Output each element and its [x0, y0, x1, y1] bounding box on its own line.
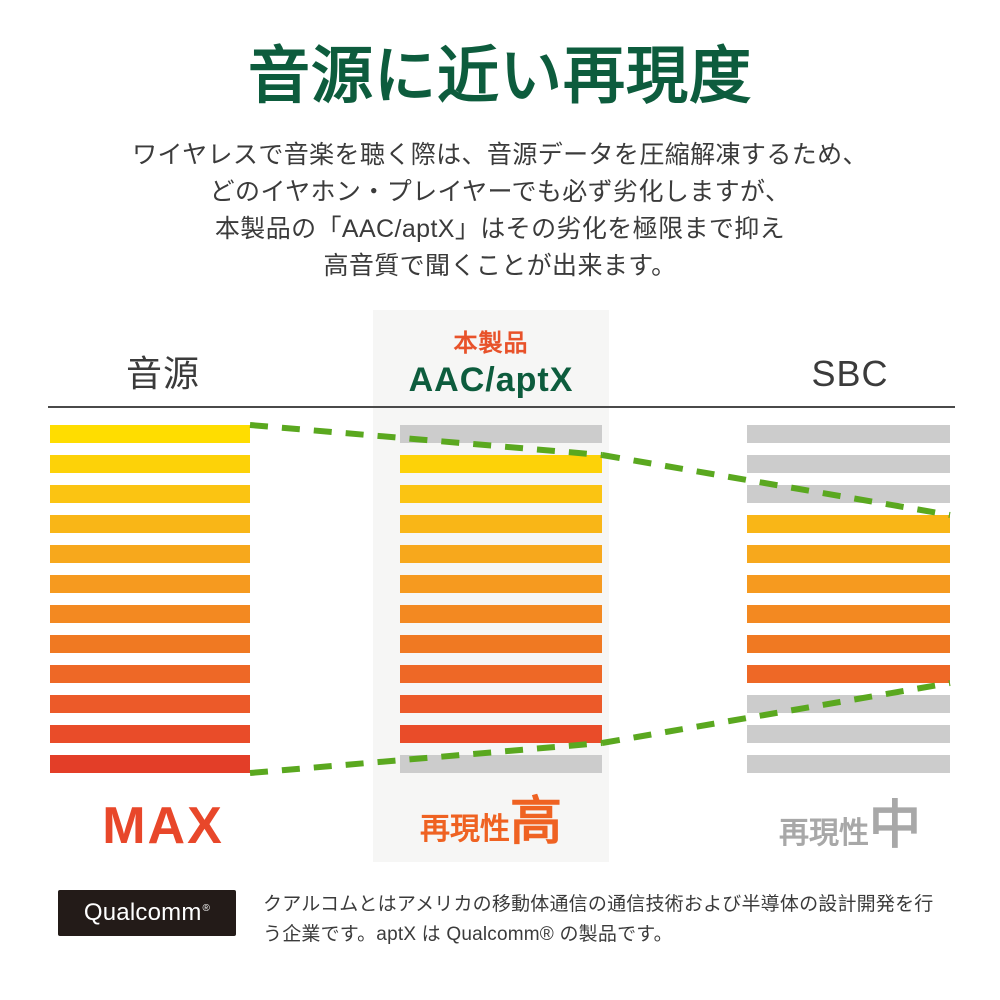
bar-sbc-band-7	[747, 605, 950, 623]
bar-aac-aptx-band-8	[400, 635, 602, 653]
bar-sbc-band-10	[747, 695, 950, 713]
bar---band-7	[50, 605, 250, 623]
bar---band-12	[50, 755, 250, 773]
bar-aac-aptx-band-1	[400, 425, 602, 443]
bar-sbc-band-3	[747, 485, 950, 503]
bar-sbc-band-5	[747, 545, 950, 563]
bar---band-9	[50, 665, 250, 683]
lead-line-2: どのイヤホン・プレイヤーでも必ず劣化しますが、	[0, 174, 1000, 211]
bar-aac-aptx-band-5	[400, 545, 602, 563]
bar---band-11	[50, 725, 250, 743]
bar-aac-aptx-band-4	[400, 515, 602, 533]
verdict-value-source: MAX	[102, 797, 224, 855]
bar-column-source	[50, 425, 250, 773]
header-divider-rule	[48, 406, 955, 408]
bar-sbc-band-4	[747, 515, 950, 533]
bar-sbc-band-8	[747, 635, 950, 653]
page-title: 音源に近い再現度	[0, 42, 1000, 112]
qualcomm-note-line-1: クアルコムとはアメリカの移動体通信の通信技術および半導体の設計開発を行	[263, 890, 963, 920]
column-label-aac-aptx: AAC/aptX	[373, 358, 609, 402]
column-header-source: 音源	[48, 352, 278, 396]
bar-aac-aptx-band-7	[400, 605, 602, 623]
bar-aac-aptx-band-10	[400, 695, 602, 713]
qualcomm-note-line-2: う企業です。aptX は Qualcomm® の製品です。	[263, 920, 963, 950]
verdict-sbc: 再現性中	[745, 800, 955, 852]
qualcomm-wordmark-text: Qualcomm	[84, 899, 202, 926]
qualcomm-wordmark: Qualcomm®	[84, 899, 210, 927]
bar---band-4	[50, 515, 250, 533]
bar-sbc-band-11	[747, 725, 950, 743]
bar-aac-aptx-band-12	[400, 755, 602, 773]
qualcomm-logo: Qualcomm®	[58, 890, 236, 936]
bar-sbc-band-12	[747, 755, 950, 773]
verdict-source: MAX	[48, 800, 278, 852]
lead-paragraph: ワイヤレスで音楽を聴く際は、音源データを圧縮解凍するため、 どのイヤホン・プレイ…	[0, 137, 1000, 285]
bar-sbc-band-6	[747, 575, 950, 593]
bar---band-3	[50, 485, 250, 503]
bar-sbc-band-2	[747, 455, 950, 473]
bar-aac-aptx-band-6	[400, 575, 602, 593]
lead-line-3: 本製品の「AAC/aptX」はその劣化を極限まで抑え	[0, 211, 1000, 248]
bar-aac-aptx-band-2	[400, 455, 602, 473]
bar---band-2	[50, 455, 250, 473]
column-badge-our-product: 本製品	[373, 330, 609, 358]
verdict-aac-aptx: 再現性高	[373, 796, 609, 848]
bar-aac-aptx-band-11	[400, 725, 602, 743]
qualcomm-note: クアルコムとはアメリカの移動体通信の通信技術および半導体の設計開発を行 う企業で…	[263, 890, 963, 950]
bar-aac-aptx-band-9	[400, 665, 602, 683]
verdict-value-sbc: 中	[869, 797, 921, 855]
column-label-source: 音源	[48, 352, 278, 396]
infographic-page: 音源に近い再現度 ワイヤレスで音楽を聴く際は、音源データを圧縮解凍するため、 ど…	[0, 0, 1000, 1000]
bar---band-1	[50, 425, 250, 443]
verdict-prefix-sbc: 再現性	[779, 817, 869, 850]
bar-aac-aptx-band-3	[400, 485, 602, 503]
lead-line-1: ワイヤレスで音楽を聴く際は、音源データを圧縮解凍するため、	[0, 137, 1000, 174]
bar-sbc-band-9	[747, 665, 950, 683]
verdict-prefix-aac-aptx: 再現性	[420, 813, 510, 846]
lead-line-4: 高音質で聞くことが出来ます。	[0, 248, 1000, 285]
bar---band-6	[50, 575, 250, 593]
column-label-sbc: SBC	[745, 352, 955, 396]
bar---band-10	[50, 695, 250, 713]
bar-column-aac-aptx	[400, 425, 602, 773]
column-header-aac-aptx: 本製品 AAC/aptX	[373, 330, 609, 402]
bar-sbc-band-1	[747, 425, 950, 443]
bar---band-5	[50, 545, 250, 563]
registered-mark-icon: ®	[203, 903, 211, 914]
bar---band-8	[50, 635, 250, 653]
column-header-sbc: SBC	[745, 352, 955, 396]
bar-column-sbc	[747, 425, 950, 773]
verdict-value-aac-aptx: 高	[510, 793, 562, 851]
